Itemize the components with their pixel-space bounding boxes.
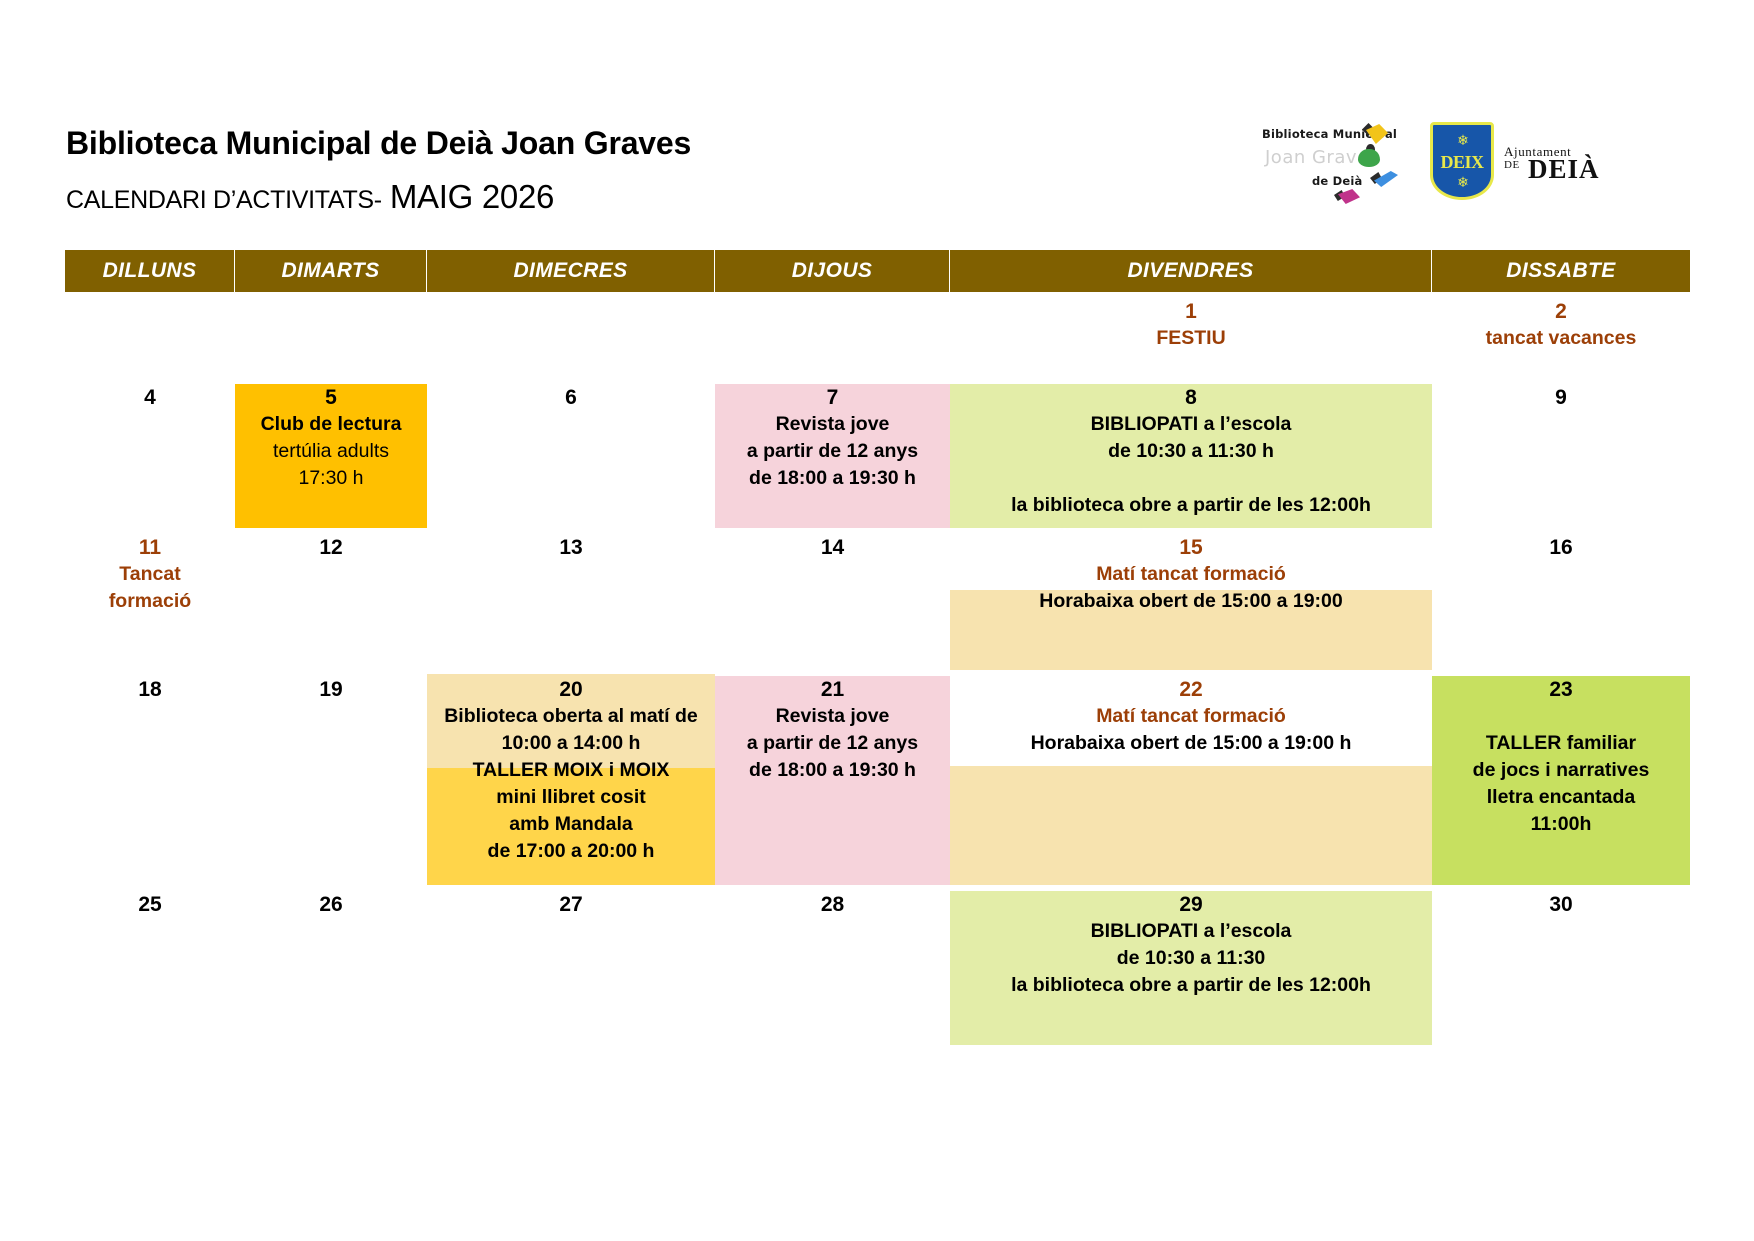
day-cell-empty: [715, 292, 950, 378]
event-line: de 18:00 a 19:30 h: [715, 465, 950, 492]
day-cell-28[interactable]: 28: [715, 885, 950, 1045]
day-cell-5[interactable]: 5Club de lecturatertúlia adults17:30 h: [235, 378, 427, 528]
event-line: BIBLIOPATI a l’escola: [950, 918, 1432, 945]
event-line: Tancat: [65, 561, 235, 588]
day-cell-content: [235, 292, 427, 298]
day-number: 2: [1432, 298, 1690, 325]
weekday-header-dimarts: DIMARTS: [235, 250, 427, 292]
event-line: Club de lectura: [235, 411, 427, 438]
day-cell-band: [235, 292, 427, 378]
day-cell-25[interactable]: 25: [65, 885, 235, 1045]
day-number: 29: [950, 891, 1432, 918]
calendar-week-row: 1FESTIU2tancat vacances: [65, 292, 1690, 378]
event-line: de 10:30 a 11:30: [950, 945, 1432, 972]
event-line: Revista jove: [715, 703, 950, 730]
day-cell-content: 15Matí tancat formacióHorabaixa obert de…: [950, 528, 1432, 615]
day-number: 14: [715, 534, 950, 561]
day-cell-band: [427, 292, 715, 378]
day-cell-empty: [235, 292, 427, 378]
page-title: Biblioteca Municipal de Deià Joan Graves: [66, 125, 691, 162]
day-cell-content: 18: [65, 670, 235, 703]
day-number: 18: [65, 676, 235, 703]
event-line: BIBLIOPATI a l’escola: [950, 411, 1432, 438]
day-cell-6[interactable]: 6: [427, 378, 715, 528]
day-cell-21[interactable]: 21Revista jovea partir de 12 anysde 18:0…: [715, 670, 950, 885]
day-cell-content: 29BIBLIOPATI a l’escolade 10:30 a 11:30l…: [950, 885, 1432, 999]
weekday-header-dilluns: DILLUNS: [65, 250, 235, 292]
day-cell-26[interactable]: 26: [235, 885, 427, 1045]
day-number: 11: [65, 534, 235, 561]
calendar-week-row: 45Club de lecturatertúlia adults17:30 h6…: [65, 378, 1690, 528]
day-cell-11[interactable]: 11Tancatformació: [65, 528, 235, 670]
day-cell-content: [427, 292, 715, 298]
weekday-header-dimecres: DIMECRES: [427, 250, 715, 292]
event-line: 17:30 h: [235, 465, 427, 492]
event-line: a partir de 12 anys: [715, 438, 950, 465]
event-line: TALLER familiar: [1432, 730, 1690, 757]
shield-label: DEIX: [1430, 152, 1494, 173]
day-number: 12: [235, 534, 427, 561]
subtitle-month: MAIG 2026: [390, 178, 554, 216]
day-cell-16[interactable]: 16: [1432, 528, 1690, 670]
day-cell-12[interactable]: 12: [235, 528, 427, 670]
day-cell-background: [427, 292, 715, 378]
logo-leaf-green-icon: [1358, 149, 1380, 167]
day-cell-content: 1FESTIU: [950, 292, 1432, 352]
day-number: 16: [1432, 534, 1690, 561]
event-line: la biblioteca obre a partir de les 12:00…: [950, 492, 1432, 519]
day-number: 5: [235, 384, 427, 411]
day-number: 9: [1432, 384, 1690, 411]
day-cell-content: 8BIBLIOPATI a l’escolade 10:30 a 11:30 h…: [950, 378, 1432, 519]
day-cell-22[interactable]: 22Matí tancat formacióHorabaixa obert de…: [950, 670, 1432, 885]
page-subtitle: CALENDARI D’ACTIVITATS- MAIG 2026: [66, 178, 554, 216]
day-cell-20[interactable]: 20Biblioteca oberta al matí de10:00 a 14…: [427, 670, 715, 885]
event-line: Matí tancat formació: [950, 703, 1432, 730]
day-cell-content: 14: [715, 528, 950, 561]
day-cell-8[interactable]: 8BIBLIOPATI a l’escolade 10:30 a 11:30 h…: [950, 378, 1432, 528]
event-line: amb Mandala: [427, 811, 715, 838]
day-cell-empty: [427, 292, 715, 378]
day-number: 27: [427, 891, 715, 918]
council-logo-icon: ❄ DEIX ❄ Ajuntament DE DEIÀ: [1430, 122, 1630, 204]
day-number: 8: [950, 384, 1432, 411]
day-number: 19: [235, 676, 427, 703]
library-logo-line3: de Deià: [1312, 174, 1362, 188]
day-number: 15: [950, 534, 1432, 561]
day-cell-content: 23TALLER familiarde jocs i narrativeslle…: [1432, 670, 1690, 838]
day-cell-band: [65, 292, 235, 378]
event-line: de 10:30 a 11:30 h: [950, 438, 1432, 465]
day-number: 25: [65, 891, 235, 918]
day-number: 26: [235, 891, 427, 918]
event-line: Horabaixa obert de 15:00 a 19:00: [950, 588, 1432, 615]
library-logo-icon: Biblioteca Municipal Joan Graves de Deià: [1262, 127, 1402, 199]
weekday-header-dissabte: DISSABTE: [1432, 250, 1690, 292]
day-cell-content: 13: [427, 528, 715, 561]
event-line-spacer: [950, 465, 1432, 492]
event-line: Revista jove: [715, 411, 950, 438]
day-number: 21: [715, 676, 950, 703]
day-cell-band: [715, 292, 950, 378]
day-cell-content: 9: [1432, 378, 1690, 411]
event-line-spacer: [1432, 703, 1690, 730]
day-number: 13: [427, 534, 715, 561]
weekday-header-dijous: DIJOUS: [715, 250, 950, 292]
event-line: Horabaixa obert de 15:00 a 19:00 h: [950, 730, 1432, 757]
event-line: 11:00h: [1432, 811, 1690, 838]
shield-star-bottom-icon: ❄: [1457, 176, 1469, 188]
event-line: lletra encantada: [1432, 784, 1690, 811]
day-cell-1[interactable]: 1FESTIU: [950, 292, 1432, 378]
day-cell-content: 26: [235, 885, 427, 918]
day-cell-content: 25: [65, 885, 235, 918]
weekday-header-divendres: DIVENDRES: [950, 250, 1432, 292]
day-cell-content: 19: [235, 670, 427, 703]
day-cell-7[interactable]: 7Revista jovea partir de 12 anysde 18:00…: [715, 378, 950, 528]
shield-star-top-icon: ❄: [1457, 134, 1469, 146]
day-number: 23: [1432, 676, 1690, 703]
calendar-header-row: DILLUNS DIMARTS DIMECRES DIJOUS DIVENDRE…: [65, 250, 1690, 292]
event-line: de 17:00 a 20:00 h: [427, 838, 715, 865]
day-cell-13[interactable]: 13: [427, 528, 715, 670]
event-line: de jocs i narratives: [1432, 757, 1690, 784]
event-line: 10:00 a 14:00 h: [427, 730, 715, 757]
page-header: Biblioteca Municipal de Deià Joan Graves…: [0, 0, 1754, 230]
day-number: 7: [715, 384, 950, 411]
day-cell-content: 2tancat vacances: [1432, 292, 1690, 352]
day-number: 1: [950, 298, 1432, 325]
event-line: formació: [65, 588, 235, 615]
event-line: a partir de 12 anys: [715, 730, 950, 757]
day-number: 6: [427, 384, 715, 411]
day-cell-23[interactable]: 23TALLER familiarde jocs i narrativeslle…: [1432, 670, 1690, 885]
day-cell-content: 11Tancatformació: [65, 528, 235, 615]
event-line: la biblioteca obre a partir de les 12:00…: [950, 972, 1432, 999]
event-line: de 18:00 a 19:30 h: [715, 757, 950, 784]
day-number: 20: [427, 676, 715, 703]
day-cell-band: [950, 766, 1432, 885]
day-cell-9[interactable]: 9: [1432, 378, 1690, 528]
event-line: tancat vacances: [1432, 325, 1690, 352]
council-logo-line2: DEIÀ: [1528, 154, 1600, 185]
calendar-week-row: 181920Biblioteca oberta al matí de10:00 …: [65, 670, 1690, 885]
day-cell-content: 5Club de lecturatertúlia adults17:30 h: [235, 378, 427, 492]
day-cell-content: [715, 292, 950, 298]
day-number: 4: [65, 384, 235, 411]
event-line: Matí tancat formació: [950, 561, 1432, 588]
event-line: Biblioteca oberta al matí de: [427, 703, 715, 730]
day-cell-content: 20Biblioteca oberta al matí de10:00 a 14…: [427, 670, 715, 865]
day-cell-content: 4: [65, 378, 235, 411]
day-cell-background: [235, 292, 427, 378]
day-cell-27[interactable]: 27: [427, 885, 715, 1045]
day-cell-empty: [65, 292, 235, 378]
day-cell-content: 22Matí tancat formacióHorabaixa obert de…: [950, 670, 1432, 757]
day-cell-30[interactable]: 30: [1432, 885, 1690, 1045]
calendar-week-row: 11Tancatformació12131415Matí tancat form…: [65, 528, 1690, 670]
day-cell-19[interactable]: 19: [235, 670, 427, 885]
event-line: TALLER MOIX i MOIX: [427, 757, 715, 784]
day-cell-content: 28: [715, 885, 950, 918]
day-cell-29[interactable]: 29BIBLIOPATI a l’escolade 10:30 a 11:30l…: [950, 885, 1432, 1045]
day-cell-content: 21Revista jovea partir de 12 anysde 18:0…: [715, 670, 950, 784]
day-cell-content: 27: [427, 885, 715, 918]
day-number: 30: [1432, 891, 1690, 918]
day-cell-4[interactable]: 4: [65, 378, 235, 528]
event-line: mini llibret cosit: [427, 784, 715, 811]
day-cell-18[interactable]: 18: [65, 670, 235, 885]
subtitle-prefix: CALENDARI D’ACTIVITATS-: [66, 186, 382, 215]
activity-calendar: DILLUNS DIMARTS DIMECRES DIJOUS DIVENDRE…: [65, 250, 1690, 1045]
calendar-week-row: 2526272829BIBLIOPATI a l’escolade 10:30 …: [65, 885, 1690, 1045]
day-cell-2[interactable]: 2tancat vacances: [1432, 292, 1690, 378]
day-cell-background: [715, 292, 950, 378]
day-cell-content: 16: [1432, 528, 1690, 561]
day-cell-content: 12: [235, 528, 427, 561]
event-line: tertúlia adults: [235, 438, 427, 465]
day-cell-content: 30: [1432, 885, 1690, 918]
event-line: FESTIU: [950, 325, 1432, 352]
day-cell-content: 7Revista jovea partir de 12 anysde 18:00…: [715, 378, 950, 492]
day-number: 22: [950, 676, 1432, 703]
council-logo-de: DE: [1504, 159, 1520, 171]
day-number: 28: [715, 891, 950, 918]
day-cell-content: 6: [427, 378, 715, 411]
day-cell-background: [65, 292, 235, 378]
day-cell-15[interactable]: 15Matí tancat formacióHorabaixa obert de…: [950, 528, 1432, 670]
day-cell-14[interactable]: 14: [715, 528, 950, 670]
calendar-body: 1FESTIU2tancat vacances45Club de lectura…: [65, 292, 1690, 1045]
day-cell-content: [65, 292, 235, 298]
